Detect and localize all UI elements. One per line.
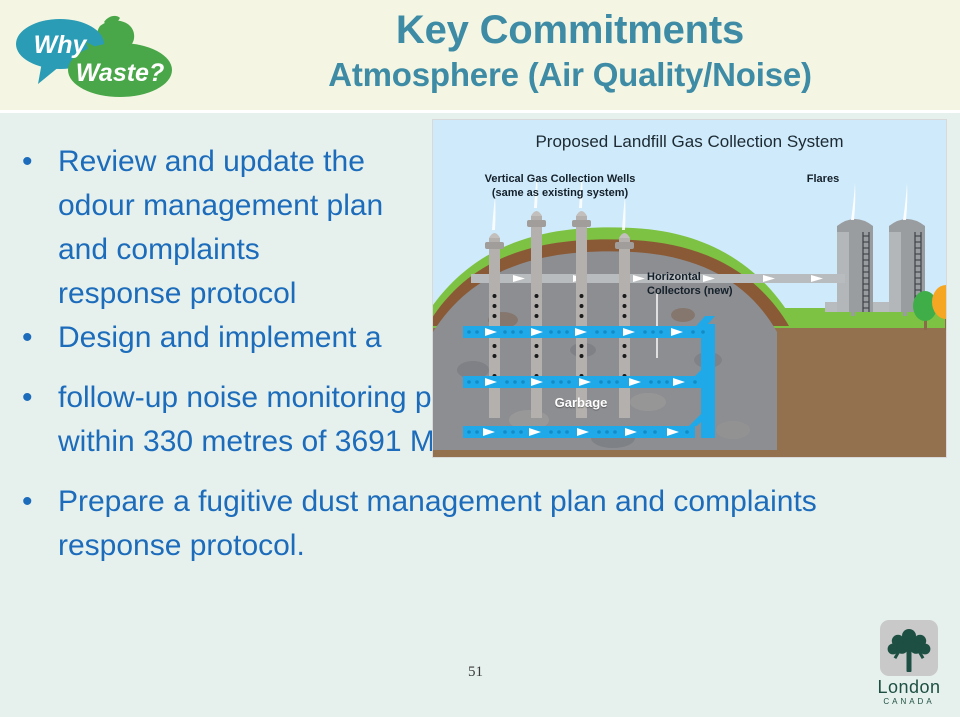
horizontal-collector-1	[463, 326, 711, 338]
page-title: Key Commitments	[190, 6, 950, 54]
logo-waste-text: Waste?	[76, 59, 164, 87]
why-waste-logo: Why Waste?	[8, 8, 180, 104]
list-item: • Review and update the odour management…	[22, 140, 422, 316]
diagram-label-wells-line2: (same as existing system)	[445, 186, 675, 200]
title-block: Key Commitments Atmosphere (Air Quality/…	[190, 6, 950, 96]
page-number: 51	[468, 664, 483, 681]
bullet-marker: •	[22, 376, 58, 420]
diagram-label-horizontal-line2: Collectors (new)	[647, 284, 757, 298]
tree-icon	[880, 620, 938, 676]
bullet-marker: •	[22, 140, 58, 184]
list-item: • Prepare a fugitive dust management pla…	[22, 480, 902, 568]
horizontal-collector-2	[463, 376, 703, 388]
diagram-label-wells-line1: Vertical Gas Collection Wells	[445, 172, 675, 186]
diagram-label-horizontal: Horizontal Collectors (new)	[647, 270, 757, 298]
bullet-marker: •	[22, 316, 58, 360]
london-wordmark: London	[866, 677, 952, 697]
bullet-text: Review and update the odour management p…	[58, 140, 388, 316]
london-tree-badge	[880, 620, 938, 676]
header-divider	[0, 110, 960, 113]
bullet-text: Prepare a fugitive dust management plan …	[58, 480, 902, 568]
bullet-marker: •	[22, 480, 58, 524]
page-subtitle: Atmosphere (Air Quality/Noise)	[190, 54, 950, 96]
diagram-label-wells: Vertical Gas Collection Wells (same as e…	[445, 172, 675, 200]
landfill-gas-diagram: Proposed Landfill Gas Collection System …	[432, 119, 947, 458]
diagram-title: Proposed Landfill Gas Collection System	[433, 132, 946, 152]
list-item: • Design and implement a	[22, 316, 422, 360]
london-canada-logo: London CANADA	[866, 620, 952, 712]
bullet-text: Design and implement a	[58, 316, 388, 360]
slide-root: Why Waste? Key Commitments Atmosphere (A…	[0, 0, 960, 717]
logo-why-text: Why	[34, 31, 88, 59]
diagram-label-horizontal-line1: Horizontal	[647, 270, 757, 284]
horizontal-collector-3	[463, 426, 695, 438]
diagram-label-garbage: Garbage	[521, 396, 641, 410]
why-waste-logo-icon: Why Waste?	[8, 8, 180, 104]
diagram-label-flares: Flares	[763, 172, 883, 186]
london-sub-wordmark: CANADA	[866, 697, 952, 707]
